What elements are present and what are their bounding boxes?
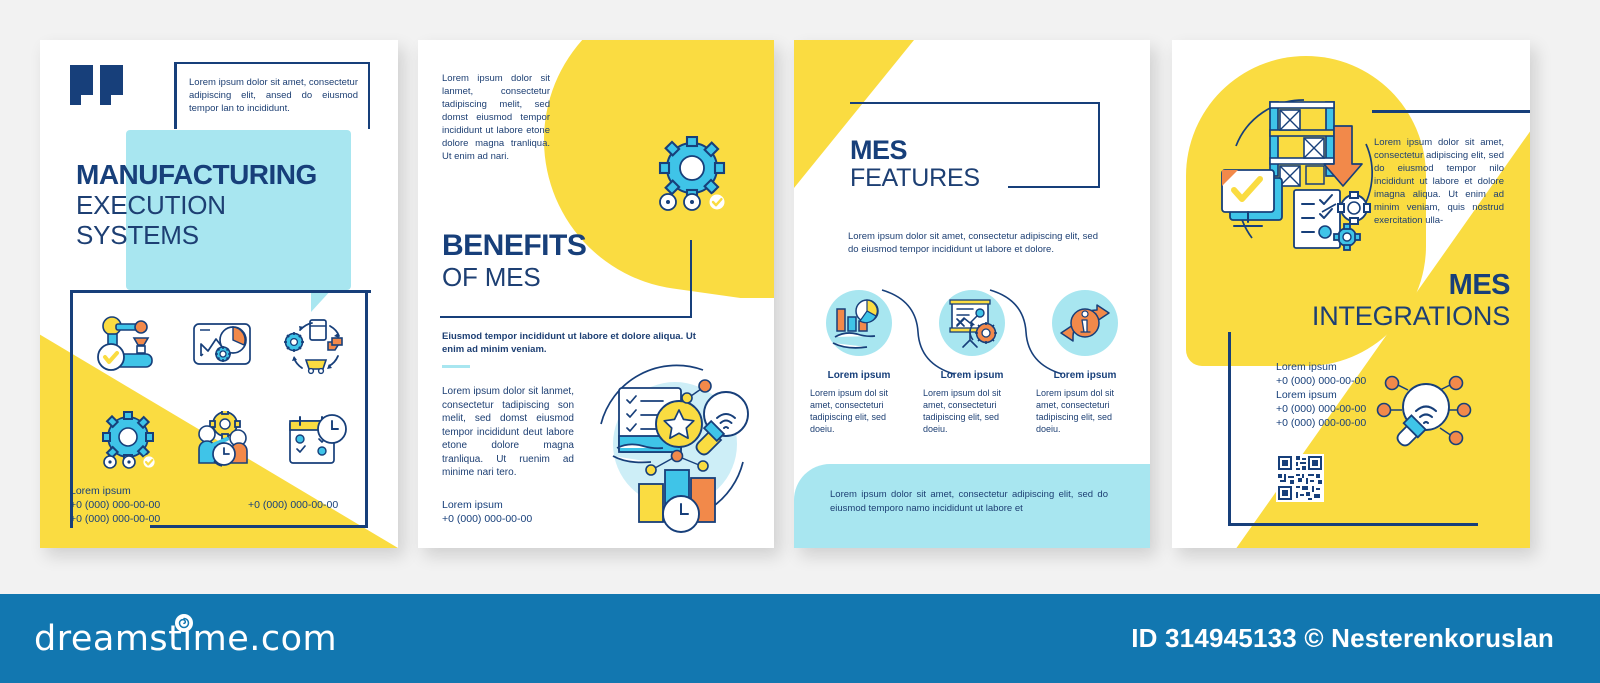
integrations-title: MES INTEGRATIONS (1312, 270, 1510, 332)
features-footer-band: Lorem ipsum dolor sit amet, consectetur … (794, 464, 1150, 548)
spiral-icon (174, 613, 194, 633)
calendar-clock-checklist-icon (282, 411, 352, 471)
integrations-contact: Lorem ipsum +0 (000) 000-00-00 Lorem ips… (1276, 360, 1366, 430)
stock-site-footer: dreamstime.com ID 314945133 © Nesterenko… (0, 594, 1600, 683)
feature-text: Lorem ipsum dol sit amet, consecteturi t… (810, 387, 908, 435)
gear-wheels-check-icon (96, 411, 166, 471)
integrations-title-line1: MES (1312, 270, 1510, 301)
cover-frame-bottom (150, 525, 368, 528)
cover-title-line1: MANUFACTURING (76, 160, 376, 190)
hand-chart-pie-icon (826, 290, 892, 356)
gear-wheels-check-icon (650, 136, 736, 219)
benefits-title-line1: BENEFITS (442, 230, 586, 262)
checklist-star-network-icon (583, 352, 768, 542)
integrations-title-line2: INTEGRATIONS (1312, 301, 1510, 332)
brochure-panel-benefits[interactable]: Lorem ipsum dolor sit lanmet, consectetu… (418, 40, 774, 548)
features-title-line1: MES (850, 136, 980, 164)
features-frame-bottom (1008, 186, 1100, 188)
feature-item[interactable]: Lorem ipsum Lorem ipsum dol sit amet, co… (1036, 290, 1134, 435)
analytics-chart-gear-icon (189, 316, 259, 376)
features-frame-right (1098, 102, 1100, 188)
supply-chain-cycle-icon (282, 316, 352, 376)
feature-text: Lorem ipsum dol sit amet, consecteturi t… (1036, 387, 1134, 435)
features-title-line2: FEATURES (850, 164, 980, 193)
benefits-body-text: Lorem ipsum dolor sit lanmet, consectetu… (442, 385, 574, 480)
feature-title: Lorem ipsum (1036, 370, 1134, 381)
benefits-title: BENEFITS OF MES (442, 230, 586, 292)
cover-contact-right: +0 (000) 000-00-00 (248, 498, 338, 512)
cover-title: MANUFACTURING EXECUTION SYSTEMS (76, 160, 376, 250)
benefits-intro-text-wrap: Lorem ipsum dolor sit lanmet, consectetu… (442, 72, 550, 163)
image-credit: ID 314945133 © Nesterenkoruslan (1131, 623, 1554, 654)
feature-text: Lorem ipsum dol sit amet, consecteturi t… (923, 387, 1021, 435)
integrations-frame-left (1228, 332, 1231, 526)
features-frame-top (850, 102, 1100, 104)
cover-contact-left: Lorem ipsum +0 (000) 000-00-00 +0 (000) … (70, 484, 160, 526)
cover-intro-text: Lorem ipsum dolor sit amet, consectetur … (189, 76, 358, 115)
benefits-title-line2: OF MES (442, 262, 586, 292)
benefits-contact: Lorem ipsum +0 (000) 000-00-00 (442, 498, 532, 526)
integrations-frame-bottom (1228, 523, 1478, 526)
brochure-stage: Lorem ipsum dolor sit amet, consectetur … (0, 0, 1600, 594)
robot-arm-check-icon (96, 316, 166, 376)
warehouse-monitor-checklist-icon (1208, 86, 1398, 276)
cover-frame-right (365, 290, 368, 528)
features-subheading: Lorem ipsum dolor sit amet, consectetur … (848, 230, 1098, 256)
features-subheading-wrap: Lorem ipsum dolor sit amet, consectetur … (848, 230, 1098, 256)
brochure-panel-cover[interactable]: Lorem ipsum dolor sit amet, consectetur … (40, 40, 398, 548)
worker-gear-time-icon (189, 411, 259, 471)
brochure-panel-integrations[interactable]: Lorem ipsum dolor sit amet, consectetur … (1172, 40, 1530, 548)
features-columns: Lorem ipsum Lorem ipsum dol sit amet, co… (810, 290, 1134, 435)
presentation-board-gear-icon (939, 290, 1005, 356)
cover-intro-box: Lorem ipsum dolor sit amet, consectetur … (174, 62, 370, 129)
cover-title-line3: SYSTEMS (76, 220, 376, 250)
benefits-intro-text: Lorem ipsum dolor sit lanmet, consectetu… (442, 72, 550, 163)
features-footer-text: Lorem ipsum dolor sit amet, consectetur … (830, 488, 1108, 515)
feature-item[interactable]: Lorem ipsum Lorem ipsum dol sit amet, co… (810, 290, 908, 435)
brochure-panel-features[interactable]: MES FEATURES Lorem ipsum dolor sit amet,… (794, 40, 1150, 548)
integrations-intro-wrap: Lorem ipsum dolor sit amet, consectetur … (1374, 136, 1504, 227)
cover-icon-grid (84, 298, 364, 488)
feature-title: Lorem ipsum (810, 370, 908, 381)
benefits-frame-bottom (440, 316, 692, 318)
feature-title: Lorem ipsum (923, 370, 1021, 381)
integrations-intro-text: Lorem ipsum dolor sit amet, consectetur … (1374, 136, 1504, 227)
qr-code-icon[interactable] (1276, 454, 1324, 502)
feature-item[interactable]: Lorem ipsum Lorem ipsum dol sit amet, co… (923, 290, 1021, 435)
info-refresh-cycle-icon (1052, 290, 1118, 356)
smart-bulb-network-icon (1376, 370, 1472, 455)
quote-mark-icon (70, 65, 132, 105)
dreamstime-logo[interactable]: dreamstime.com (34, 619, 337, 659)
benefits-frame-right (690, 240, 692, 318)
cover-title-line2: EXECUTION (76, 190, 376, 220)
features-title: MES FEATURES (850, 136, 980, 193)
benefits-body-wrap: Lorem ipsum dolor sit lanmet, consectetu… (442, 385, 574, 480)
benefits-divider (442, 365, 470, 368)
